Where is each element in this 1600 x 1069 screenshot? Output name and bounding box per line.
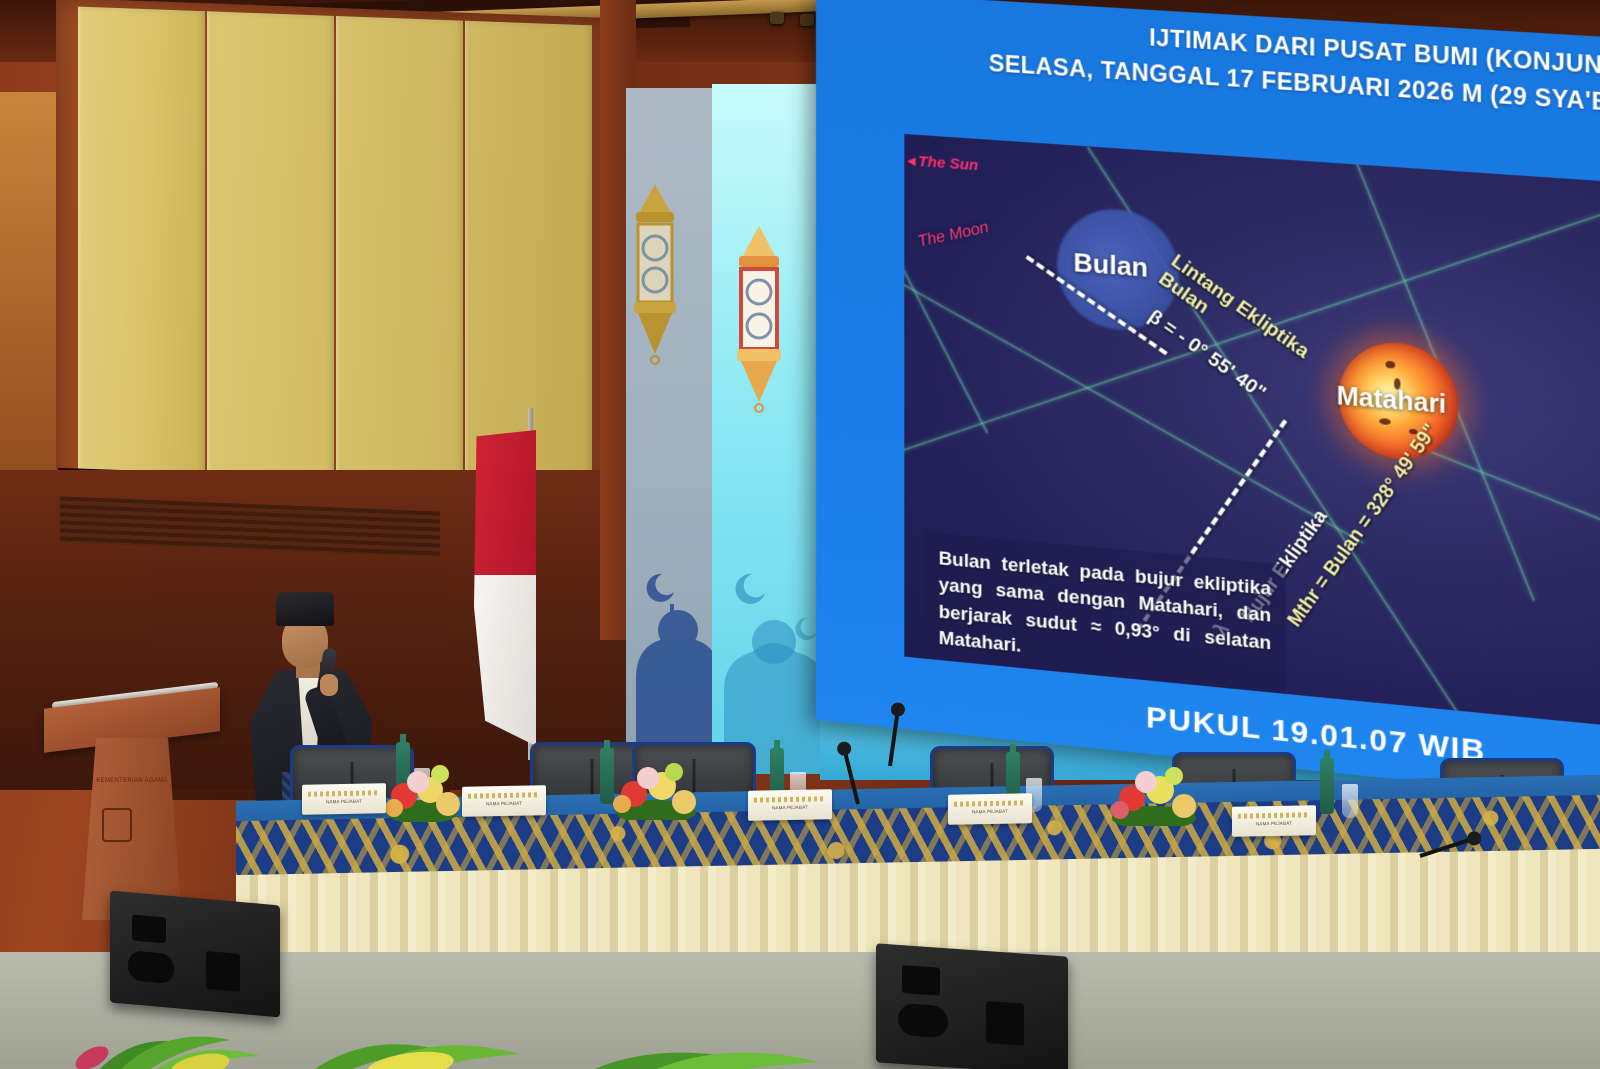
nameplate-ornament bbox=[954, 800, 1026, 806]
nameplate-text: NAMA PEJABAT bbox=[466, 800, 542, 806]
nameplate-text: NAMA PEJABAT bbox=[752, 804, 828, 810]
acoustic-panel bbox=[207, 11, 334, 486]
speaker-port bbox=[898, 1003, 948, 1038]
nameplate-text: NAMA PEJABAT bbox=[1236, 820, 1312, 826]
ceiling-spotlight bbox=[770, 12, 784, 24]
nameplate-text: NAMA PEJABAT bbox=[306, 798, 382, 804]
screenshot-root: IJTIMAK DARI PUSAT BUMI (KONJUNGSI SELAS… bbox=[0, 0, 1600, 1069]
speaker-peci-cap bbox=[276, 592, 334, 626]
sun-english-text: The Sun bbox=[918, 153, 978, 174]
table-nameplate: NAMA PEJABAT bbox=[948, 793, 1032, 825]
ceiling-spotlight bbox=[800, 14, 814, 26]
wall-left-strip bbox=[0, 92, 60, 512]
acoustic-panel-group bbox=[78, 7, 592, 496]
speaker-podium: KEMENTERIAN AGAMA bbox=[44, 690, 220, 920]
moon-label: Bulan bbox=[1073, 247, 1148, 284]
indonesian-flag bbox=[474, 430, 536, 746]
decorative-palm-plant bbox=[560, 1022, 840, 1069]
acoustic-panel bbox=[336, 16, 463, 491]
sunspot bbox=[1386, 361, 1396, 369]
nameplate-ornament bbox=[754, 796, 826, 802]
speaker-port bbox=[206, 951, 240, 992]
flower-arrangement bbox=[1106, 764, 1216, 826]
flag-red-band bbox=[474, 430, 536, 575]
drinking-glass[interactable] bbox=[1342, 784, 1358, 818]
speaker-port bbox=[902, 965, 940, 996]
speaker-hand bbox=[320, 674, 338, 696]
speaker-port bbox=[128, 950, 174, 984]
podium-caption: KEMENTERIAN AGAMA bbox=[86, 778, 178, 784]
decorative-palm-plant bbox=[290, 1010, 590, 1069]
speaker-port bbox=[132, 914, 166, 943]
podium-emblem-icon bbox=[102, 808, 132, 842]
water-bottle[interactable] bbox=[1320, 758, 1334, 814]
table-nameplate: NAMA PEJABAT bbox=[748, 789, 832, 821]
nameplate-text: NAMA PEJABAT bbox=[952, 808, 1028, 814]
lantern-gold-icon bbox=[618, 178, 692, 378]
nameplate-ornament bbox=[1238, 812, 1310, 818]
nameplate-ornament bbox=[468, 792, 540, 798]
table-nameplate: NAMA PEJABAT bbox=[462, 785, 546, 817]
acoustic-panel bbox=[78, 7, 205, 482]
speaker-port bbox=[986, 1001, 1024, 1046]
stage-monitor-speaker bbox=[110, 891, 280, 1018]
table-nameplate: NAMA PEJABAT bbox=[1232, 805, 1316, 837]
sunspot bbox=[1379, 418, 1391, 425]
slide-body-callout: Bulan terletak pada bujur ekliptika yang… bbox=[925, 532, 1286, 697]
lantern-red-icon bbox=[722, 222, 796, 422]
slide-sky-chart: Bulan Matahari The Moon ◄The Sun Lintang… bbox=[904, 134, 1600, 730]
stage-monitor-speaker bbox=[876, 943, 1068, 1069]
projection-screen: IJTIMAK DARI PUSAT BUMI (KONJUNGSI SELAS… bbox=[816, 0, 1600, 805]
nameplate-ornament bbox=[308, 790, 380, 796]
table-nameplate: NAMA PEJABAT bbox=[302, 783, 386, 815]
flower-arrangement bbox=[610, 758, 720, 820]
